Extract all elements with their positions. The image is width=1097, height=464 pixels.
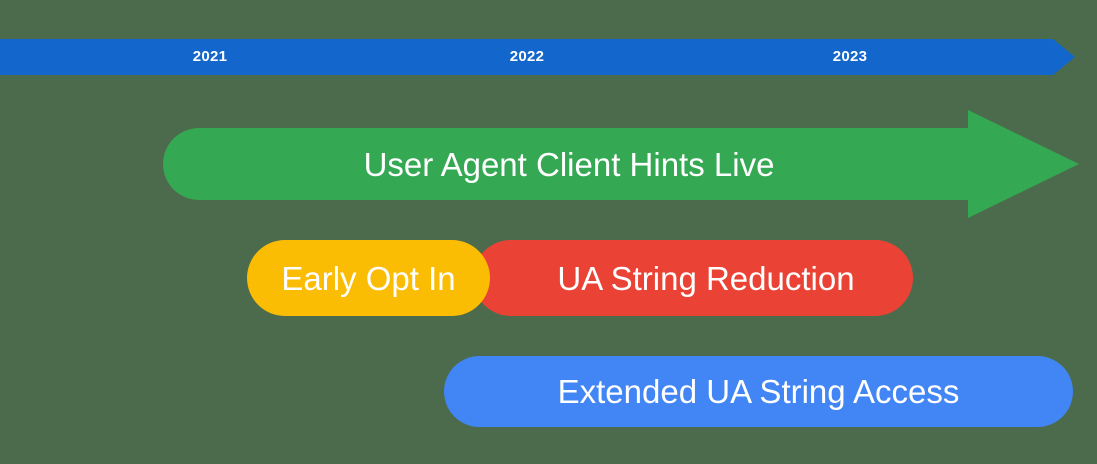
axis-tick-2022: 2022	[510, 48, 545, 66]
year-timeline-axis: 2021 2022 2023	[0, 39, 1097, 75]
bar-arrowhead-icon	[968, 110, 1079, 218]
timeline-diagram: 2021 2022 2023 User Agent Client Hints L…	[0, 0, 1097, 464]
bar-label-wrap: User Agent Client Hints Live	[163, 128, 975, 200]
bar-label-extended-ua-string-access: Extended UA String Access	[558, 375, 960, 408]
axis-tick-2021: 2021	[193, 48, 228, 66]
axis-tick-2023: 2023	[833, 48, 868, 66]
axis-arrowhead-icon	[1053, 39, 1075, 75]
bar-label-early-opt-in: Early Opt In	[281, 262, 455, 295]
bar-label-ua-string-reduction: UA String Reduction	[531, 262, 854, 295]
bar-extended-ua-string-access[interactable]: Extended UA String Access	[444, 356, 1073, 427]
bar-early-opt-in[interactable]: Early Opt In	[247, 240, 490, 316]
bar-label-user-agent-client-hints-live: User Agent Client Hints Live	[364, 148, 775, 181]
bar-user-agent-client-hints-live[interactable]: User Agent Client Hints Live	[163, 110, 1079, 218]
bar-ua-string-reduction[interactable]: UA String Reduction	[473, 240, 913, 316]
